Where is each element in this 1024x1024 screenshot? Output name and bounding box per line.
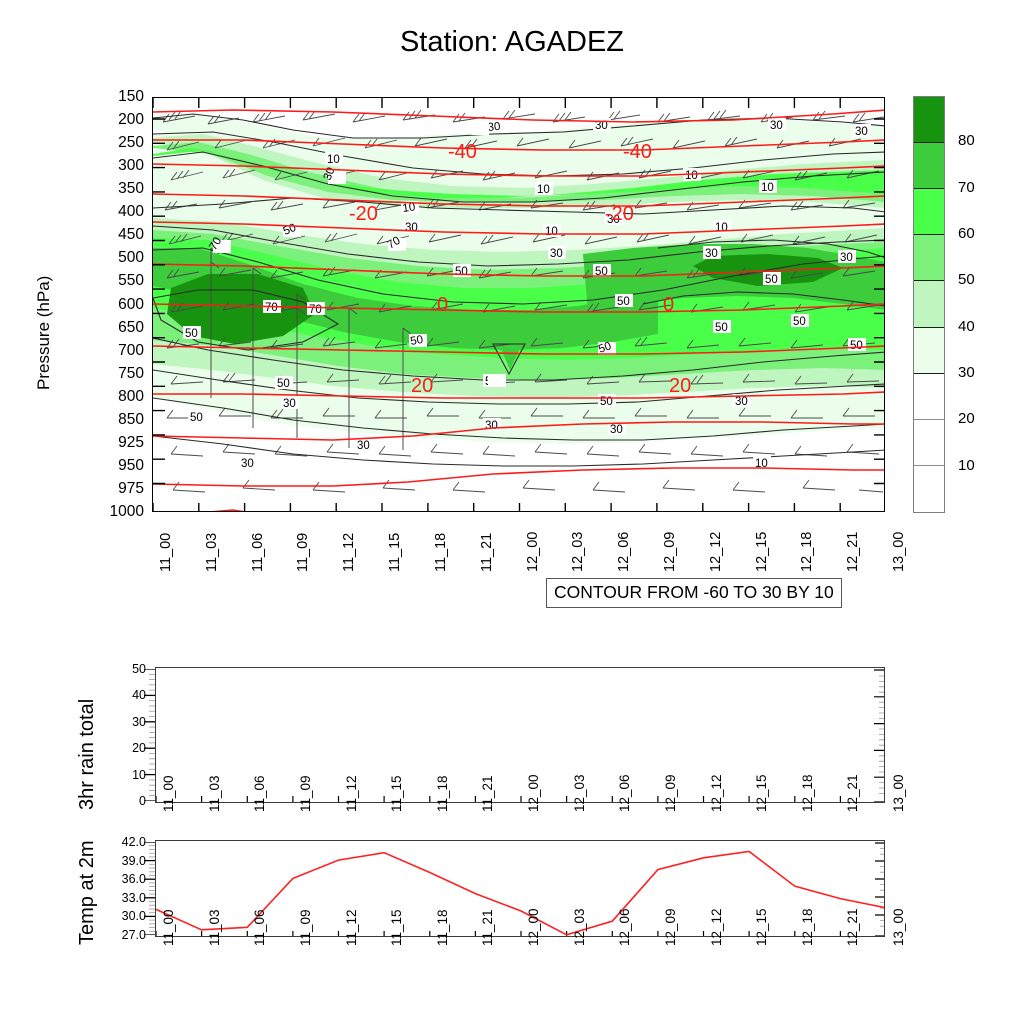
- x-tick: 11_06: [252, 775, 267, 812]
- main-y-tick: 300: [78, 157, 144, 175]
- rain-y-axis-title: 3hr rain total: [76, 699, 99, 810]
- svg-text:30: 30: [735, 396, 748, 408]
- main-y-tick: 400: [78, 203, 144, 221]
- x-tick: 12_21: [845, 774, 860, 812]
- rain-y-tick: 20: [106, 741, 146, 755]
- x-tick: 12_15: [754, 908, 769, 946]
- x-tick: 11_00: [158, 533, 174, 572]
- humidity-colorbar: [913, 96, 945, 513]
- svg-text:30: 30: [705, 248, 718, 260]
- temp-y-tick: 36.0: [96, 872, 146, 886]
- x-tick: 12_15: [754, 532, 770, 572]
- x-tick: 11_12: [344, 909, 359, 946]
- x-tick: 12_06: [616, 532, 632, 572]
- colorbar-label: 10: [958, 457, 975, 474]
- x-tick: 11_06: [250, 533, 266, 572]
- rain-y-tick: 40: [106, 688, 146, 702]
- colorbar-band: [914, 281, 944, 327]
- x-tick: 11_09: [298, 775, 313, 812]
- main-y-tick: 850: [78, 411, 144, 429]
- svg-text:10: 10: [761, 182, 774, 194]
- svg-text:10: 10: [537, 184, 550, 196]
- x-tick: 12_18: [799, 532, 815, 572]
- rain-y-tick: 30: [106, 715, 146, 729]
- svg-text:10: 10: [715, 222, 728, 234]
- svg-text:30: 30: [485, 420, 498, 432]
- colorbar-label: 60: [958, 225, 975, 242]
- isotherm-label-m40: -40: [448, 141, 477, 163]
- svg-text:10: 10: [327, 154, 340, 166]
- rain-y-tick: 10: [106, 768, 146, 782]
- isotherm-label-0: 0: [437, 294, 448, 316]
- temp-left-spine-ticks: [141, 842, 155, 935]
- colorbar-band: [914, 466, 944, 512]
- colorbar-label: 40: [958, 318, 975, 335]
- x-tick: 11_21: [480, 909, 495, 946]
- humidity-cross-section-plot: 30 30 30 30 50 70 70 70 10 10 10 10 10 1…: [152, 97, 885, 512]
- svg-text:30: 30: [487, 121, 501, 134]
- colorbar-band: [914, 235, 944, 281]
- x-tick: 13_00: [891, 774, 906, 812]
- x-tick: 12_21: [845, 532, 861, 572]
- main-y-tick: 750: [78, 365, 144, 383]
- svg-text:30: 30: [840, 252, 853, 264]
- main-y-tick: 500: [78, 249, 144, 267]
- main-y-tick: 350: [78, 180, 144, 198]
- colorbar-band: [914, 420, 944, 466]
- svg-text:50: 50: [793, 316, 806, 328]
- x-tick: 11_00: [161, 909, 176, 946]
- x-tick: 12_06: [617, 908, 632, 946]
- temp-y-tick: 33.0: [96, 891, 146, 905]
- x-tick: 11_15: [389, 909, 404, 946]
- x-tick: 11_06: [252, 909, 267, 946]
- rain-y-tick: 0: [106, 794, 146, 808]
- main-y-tick: 650: [78, 319, 144, 337]
- main-y-tick: 700: [78, 342, 144, 360]
- x-tick: 11_18: [435, 909, 450, 946]
- x-tick: 12_18: [800, 774, 815, 812]
- svg-text:50: 50: [850, 340, 863, 352]
- rain-y-tick: 50: [106, 662, 146, 676]
- main-y-tick: 600: [78, 296, 144, 314]
- svg-text:10: 10: [545, 226, 558, 238]
- x-tick: 13_00: [891, 908, 906, 946]
- x-tick: 12_06: [617, 774, 632, 812]
- main-y-tick: 800: [78, 388, 144, 406]
- svg-text:70: 70: [309, 304, 322, 316]
- svg-text:30: 30: [610, 424, 623, 436]
- svg-text:30: 30: [855, 126, 868, 138]
- main-y-tick: 200: [78, 111, 144, 129]
- svg-text:50: 50: [190, 412, 203, 424]
- svg-text:70: 70: [265, 302, 278, 314]
- svg-text:50: 50: [455, 266, 468, 278]
- x-tick: 12_12: [709, 774, 724, 812]
- x-tick: 12_15: [754, 774, 769, 812]
- x-tick: 11_18: [435, 775, 450, 812]
- svg-text:30: 30: [357, 440, 370, 452]
- x-tick: 12_03: [572, 774, 587, 812]
- colorbar-band: [914, 328, 944, 374]
- x-tick: 11_03: [207, 909, 222, 946]
- svg-text:50: 50: [185, 328, 198, 340]
- x-tick: 12_03: [572, 908, 587, 946]
- main-y-tick: 150: [78, 88, 144, 106]
- isotherm-label-0b: 0: [663, 294, 674, 316]
- svg-text:30: 30: [550, 248, 563, 260]
- x-tick: 12_21: [845, 908, 860, 946]
- main-y-tick: 950: [78, 457, 144, 475]
- x-tick: 11_15: [387, 533, 403, 572]
- rain-left-spine-ticks: [141, 669, 155, 801]
- isotherm-label-20b: 20: [669, 375, 691, 397]
- svg-text:30: 30: [405, 222, 418, 234]
- x-tick: 12_03: [570, 532, 586, 572]
- x-tick: 12_12: [708, 532, 724, 572]
- x-tick: 12_09: [663, 774, 678, 812]
- colorbar-label: 80: [958, 132, 975, 149]
- main-y-tick: 250: [78, 134, 144, 152]
- main-y-axis-title: Pressure (hPa): [34, 276, 54, 390]
- svg-text:50: 50: [715, 322, 728, 334]
- svg-text:30: 30: [283, 398, 296, 410]
- colorbar-label: 70: [958, 179, 975, 196]
- svg-text:50: 50: [765, 274, 778, 286]
- x-tick: 11_21: [480, 775, 495, 812]
- main-y-tick: 450: [78, 226, 144, 244]
- x-tick: 11_18: [433, 533, 449, 572]
- x-tick: 11_00: [161, 775, 176, 812]
- colorbar-label: 50: [958, 271, 975, 288]
- main-y-tick: 925: [78, 434, 144, 452]
- page-title: Station: AGADEZ: [0, 26, 1024, 59]
- x-tick: 11_09: [295, 533, 311, 572]
- colorbar-label: 20: [958, 410, 975, 427]
- colorbar-band: [914, 189, 944, 235]
- svg-text:50: 50: [409, 334, 424, 348]
- colorbar-band: [914, 97, 944, 143]
- temp-y-tick: 39.0: [96, 854, 146, 868]
- x-tick: 11_15: [389, 775, 404, 812]
- temp-y-tick: 30.0: [96, 909, 146, 923]
- temp-y-tick: 27.0: [96, 928, 146, 942]
- svg-text:30: 30: [241, 458, 254, 470]
- x-tick: 12_00: [525, 532, 541, 572]
- svg-text:50: 50: [277, 378, 290, 390]
- colorbar-band: [914, 374, 944, 420]
- cross-section-canvas: 30 30 30 30 50 70 70 70 10 10 10 10 10 1…: [153, 98, 885, 512]
- isotherm-label-m20b: -20: [605, 203, 634, 225]
- svg-text:30: 30: [770, 120, 783, 132]
- svg-text:10: 10: [685, 170, 698, 182]
- x-tick: 11_12: [344, 775, 359, 812]
- x-tick: 12_00: [526, 908, 541, 946]
- svg-text:50: 50: [617, 296, 630, 308]
- x-tick: 11_03: [204, 533, 220, 572]
- isotherm-label-20: 20: [411, 375, 433, 397]
- main-y-tick: 550: [78, 272, 144, 290]
- isotherm-label-m40b: -40: [623, 141, 652, 163]
- x-tick: 11_12: [341, 533, 357, 572]
- x-tick: 11_09: [298, 909, 313, 946]
- main-y-tick: 1000: [78, 503, 144, 521]
- x-tick: 11_21: [479, 533, 495, 572]
- main-y-tick: 975: [78, 480, 144, 498]
- x-tick: 13_00: [891, 532, 907, 572]
- x-tick: 12_09: [662, 532, 678, 572]
- x-tick: 12_09: [663, 908, 678, 946]
- x-tick: 12_18: [800, 908, 815, 946]
- x-tick: 11_03: [207, 775, 222, 812]
- x-tick: 12_12: [709, 908, 724, 946]
- contour-range-note: CONTOUR FROM -60 TO 30 BY 10: [546, 578, 842, 608]
- colorbar-band: [914, 143, 944, 189]
- isotherm-label-m20: -20: [349, 203, 378, 225]
- colorbar-label: 30: [958, 364, 975, 381]
- temp-y-tick: 42.0: [96, 835, 146, 849]
- x-tick: 12_00: [526, 774, 541, 812]
